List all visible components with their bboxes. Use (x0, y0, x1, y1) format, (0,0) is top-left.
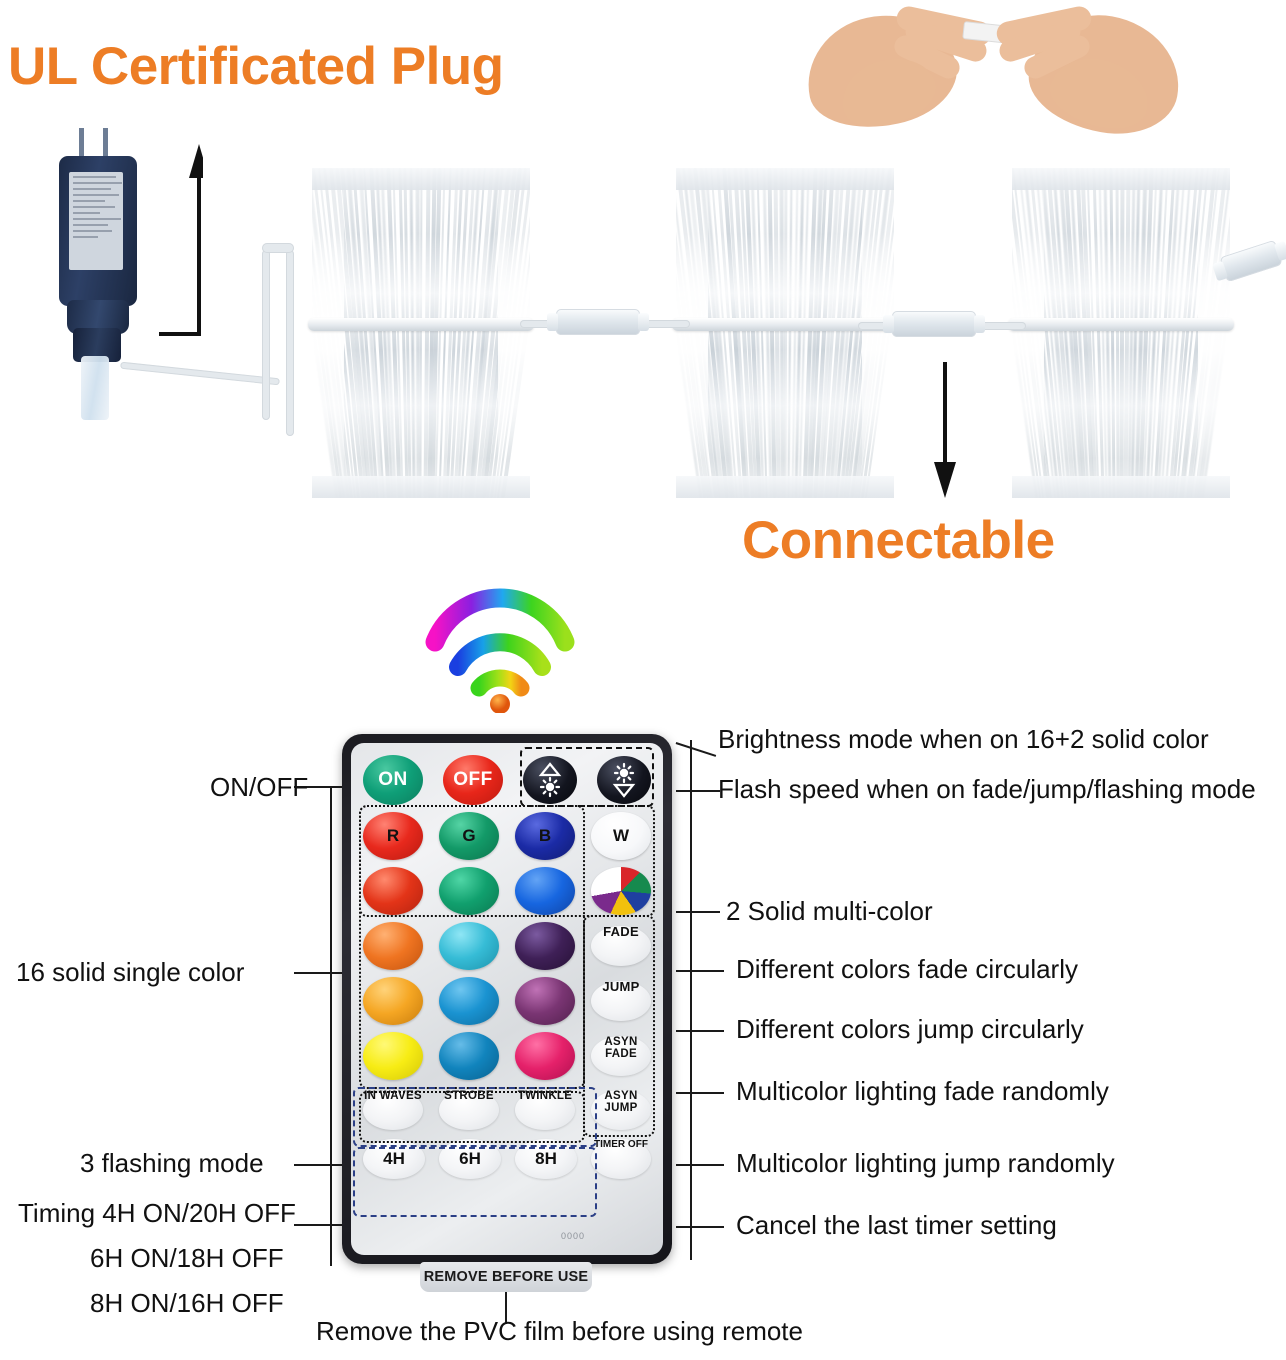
color-button-azure[interactable] (439, 977, 499, 1025)
callout-onoff: ON/OFF (210, 772, 308, 803)
asyn-jump-label: ASYN JUMP (604, 1090, 637, 1114)
timer-6h-button[interactable]: 6H (439, 1139, 501, 1179)
color-button-green-2[interactable] (439, 867, 499, 915)
callout-16-solid: 16 solid single color (16, 957, 244, 988)
leader-left-spine (330, 786, 332, 1266)
color-button-green[interactable]: G (439, 812, 499, 860)
brightness-down-icon (605, 761, 643, 799)
color-row-4: JUMP (363, 977, 651, 1025)
asyn-fade-label: ASYN FADE (604, 1036, 637, 1060)
leader-flash-speed (676, 790, 720, 792)
arrow-up-icon (133, 138, 203, 343)
color-button-multi-wheel[interactable] (591, 867, 651, 915)
callout-remove-pvc: Remove the PVC film before using remote (316, 1316, 803, 1347)
leader-two-solid (676, 911, 720, 913)
callout-timing-1: Timing 4H ON/20H OFF (18, 1198, 296, 1229)
jump-button[interactable]: JUMP (591, 981, 651, 1021)
ul-plug-adapter-photo (45, 128, 155, 378)
brightness-up-button[interactable] (523, 756, 577, 804)
color-button-teal-blue[interactable] (439, 1032, 499, 1080)
timer-4h-label: 4H (383, 1149, 405, 1169)
color-row-2 (363, 867, 651, 915)
callout-flash-speed: Flash speed when on fade/jump/flashing m… (718, 774, 1256, 805)
in-waves-label: IN WAVES (364, 1090, 422, 1102)
timer-8h-button[interactable]: 8H (515, 1139, 577, 1179)
timer-6h-label: 6H (459, 1149, 481, 1169)
plug-wire-loop (262, 250, 270, 420)
remove-before-use-tab[interactable]: REMOVE BEFORE USE (420, 1262, 592, 1292)
color-label-r: R (387, 826, 399, 846)
in-waves-button[interactable]: IN WAVES (363, 1090, 423, 1130)
page-title-connectable: Connectable (742, 510, 1055, 571)
rainbow-wifi-icon (425, 588, 575, 713)
timer-8h-label: 8H (535, 1149, 557, 1169)
leader-fade-circ (676, 970, 724, 972)
strobe-label: STROBE (444, 1090, 494, 1102)
brightness-up-icon (531, 761, 569, 799)
ul-label (69, 172, 123, 270)
color-row-1: R G B W (363, 812, 651, 860)
fade-label: FADE (603, 924, 639, 939)
color-button-blue[interactable]: B (515, 812, 575, 860)
power-row: ON OFF (363, 755, 651, 805)
on-button[interactable]: ON (363, 755, 423, 805)
off-label: OFF (453, 769, 493, 791)
twinkle-label: TWINKLE (518, 1090, 572, 1102)
color-button-red[interactable]: R (363, 812, 423, 860)
light-bundle-2 (676, 168, 894, 498)
color-button-blue-2[interactable] (515, 867, 575, 915)
inline-connector-2 (892, 311, 976, 337)
leader-brightness (676, 742, 716, 756)
off-button[interactable]: OFF (443, 755, 503, 805)
color-label-b: B (539, 826, 551, 846)
light-bundle-1 (312, 168, 530, 498)
brightness-down-button[interactable] (597, 756, 651, 804)
color-row-5: ASYN FADE (363, 1032, 651, 1080)
color-row-3: FADE (363, 922, 651, 970)
page-title-ul-certificated-plug: UL Certificated Plug (8, 36, 504, 97)
callout-fade-random: Multicolor lighting fade randomly (736, 1076, 1109, 1107)
plug-wire-loop-2 (286, 250, 294, 436)
remote-serial: 0000 (561, 1231, 585, 1241)
inline-connector-1 (556, 309, 640, 335)
color-button-magenta[interactable] (515, 1032, 575, 1080)
asyn-jump-button[interactable]: ASYN JUMP (591, 1090, 651, 1130)
leader-right-spine (690, 740, 692, 1260)
callout-3-flashing: 3 flashing mode (80, 1148, 264, 1179)
fade-button[interactable]: FADE (591, 926, 651, 966)
callout-timing-3: 8H ON/16H OFF (90, 1288, 284, 1319)
on-label: ON (378, 769, 408, 791)
timer-row: 4H 6H 8H TIMER OFF (363, 1139, 651, 1179)
color-button-white[interactable]: W (591, 812, 651, 860)
flash-row: IN WAVES STROBE TWINKLE ASYN JUMP (363, 1090, 651, 1130)
timer-4h-button[interactable]: 4H (363, 1139, 425, 1179)
jump-label: JUMP (602, 979, 639, 994)
remote-control[interactable]: ON OFF (342, 734, 672, 1264)
plug-wire-bend (262, 243, 294, 253)
callout-cancel-timer: Cancel the last timer setting (736, 1210, 1057, 1241)
remote-face: ON OFF (351, 743, 663, 1255)
leader-jump-circ (676, 1030, 724, 1032)
color-label-g: G (462, 826, 475, 846)
timer-off-button[interactable]: TIMER OFF (591, 1139, 651, 1179)
color-label-w: W (613, 826, 629, 846)
twinkle-button[interactable]: TWINKLE (515, 1090, 575, 1130)
arrow-down-icon (930, 362, 960, 507)
leader-16-colors (294, 972, 342, 974)
callout-timing-2: 6H ON/18H OFF (90, 1243, 284, 1274)
asyn-fade-button[interactable]: ASYN FADE (591, 1036, 651, 1076)
leader-jump-random (676, 1164, 724, 1166)
timer-off-label: TIMER OFF (594, 1139, 648, 1150)
callout-fade-circ: Different colors fade circularly (736, 954, 1078, 985)
color-button-orange[interactable] (363, 922, 423, 970)
leader-fade-random (676, 1092, 724, 1094)
light-bundle-3 (1012, 168, 1230, 498)
color-button-cyan[interactable] (439, 922, 499, 970)
strobe-button[interactable]: STROBE (439, 1090, 499, 1130)
color-button-purple[interactable] (515, 977, 575, 1025)
leader-cancel-timer (676, 1226, 724, 1228)
leader-3-flashing (294, 1164, 342, 1166)
leader-timing (294, 1224, 342, 1226)
callout-brightness: Brightness mode when on 16+2 solid color (718, 724, 1209, 755)
callout-jump-random: Multicolor lighting jump randomly (736, 1148, 1115, 1179)
color-button-red-2[interactable] (363, 867, 423, 915)
callout-two-solid-multi: 2 Solid multi-color (726, 896, 933, 927)
color-button-yellow[interactable] (363, 1032, 423, 1080)
color-button-deep-purple[interactable] (515, 922, 575, 970)
color-button-amber[interactable] (363, 977, 423, 1025)
callout-jump-circ: Different colors jump circularly (736, 1014, 1084, 1045)
hands-connecting-plug-photo (800, 0, 1184, 126)
